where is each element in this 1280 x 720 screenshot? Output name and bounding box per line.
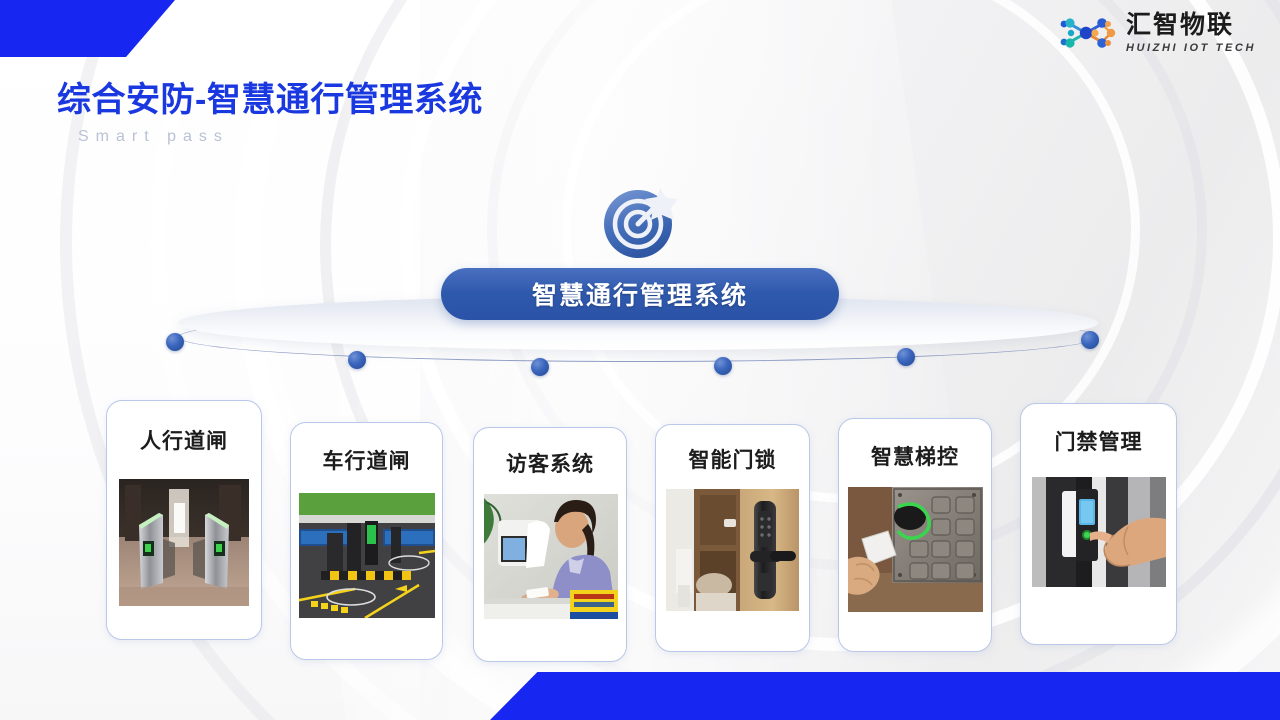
vehicle-barrier-gate-photo bbox=[299, 493, 435, 618]
hub-banner-label: 智慧通行管理系统 bbox=[532, 276, 748, 312]
logo-name-en: HUIZHI IOT TECH bbox=[1126, 43, 1256, 54]
molecule-network-icon bbox=[1059, 12, 1117, 54]
feature-card-label: 人行道闸 bbox=[107, 425, 261, 455]
logo-text-block: 汇智物联 HUIZHI IOT TECH bbox=[1126, 13, 1256, 54]
feature-card-elevator-control[interactable]: 智慧梯控 bbox=[838, 418, 992, 652]
feature-card-label: 车行道闸 bbox=[291, 445, 442, 475]
feature-card-smart-lock[interactable]: 智能门锁 bbox=[655, 424, 810, 652]
connector-node-2 bbox=[348, 351, 366, 369]
elevator-card-reader-photo bbox=[848, 487, 983, 612]
feature-card-vehicle-gate[interactable]: 车行道闸 bbox=[290, 422, 443, 660]
hub-banner[interactable]: 智慧通行管理系统 bbox=[441, 268, 839, 320]
page-subtitle: Smart pass bbox=[78, 128, 229, 146]
connector-node-1 bbox=[166, 333, 184, 351]
feature-card-label: 门禁管理 bbox=[1021, 426, 1176, 456]
company-logo: 汇智物联 HUIZHI IOT TECH bbox=[1059, 12, 1256, 54]
slide-canvas: 综合安防-智慧通行管理系统 Smart pass 汇智物联 HUIZHI I bbox=[0, 0, 1280, 720]
feature-card-visitor-system[interactable]: 访客系统 bbox=[473, 427, 627, 662]
feature-card-label: 智慧梯控 bbox=[839, 441, 991, 471]
page-title: 综合安防-智慧通行管理系统 bbox=[57, 72, 483, 121]
visitor-reception-photo bbox=[484, 494, 618, 619]
feature-card-label: 智能门锁 bbox=[656, 444, 809, 474]
logo-name-cn: 汇智物联 bbox=[1126, 13, 1256, 38]
connector-node-3 bbox=[531, 358, 549, 376]
smart-door-lock-photo bbox=[666, 489, 799, 611]
access-control-fingerprint-photo bbox=[1032, 477, 1166, 587]
feature-card-label: 访客系统 bbox=[474, 448, 626, 478]
target-arrow-icon bbox=[598, 184, 684, 260]
connector-node-6 bbox=[1081, 331, 1099, 349]
connector-node-5 bbox=[897, 348, 915, 366]
pedestrian-speed-gate-photo bbox=[119, 479, 249, 606]
corner-accent-bottom-right bbox=[490, 672, 1280, 720]
feature-card-access-control[interactable]: 门禁管理 bbox=[1020, 403, 1177, 645]
feature-card-pedestrian-gate[interactable]: 人行道闸 bbox=[106, 400, 262, 640]
connector-node-4 bbox=[714, 357, 732, 375]
